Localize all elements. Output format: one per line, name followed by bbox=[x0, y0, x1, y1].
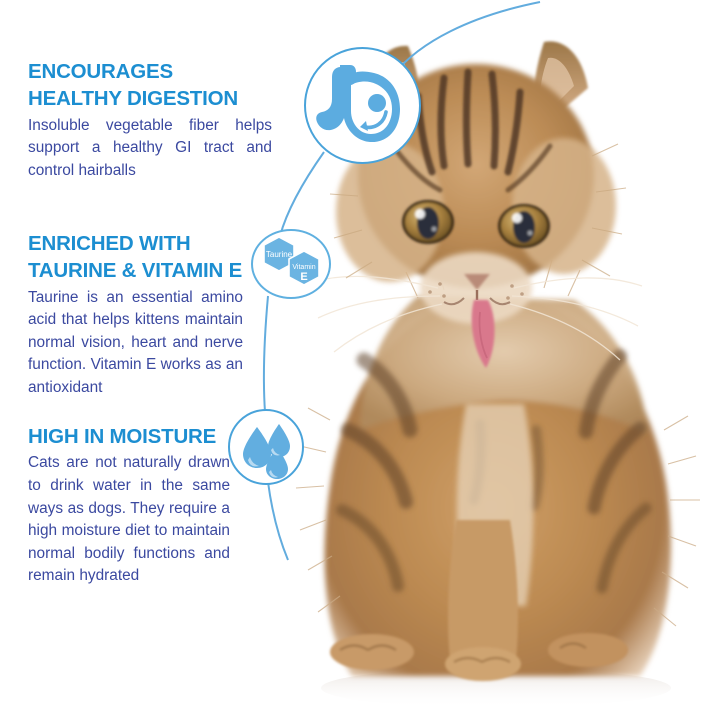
section-digestion-body: Insoluble vegetable fiber helps support … bbox=[28, 115, 272, 183]
hexagon-label-vitamin: Vitamin bbox=[292, 264, 315, 271]
section-taurine-heading: ENRICHED WITH TAURINE & VITAMIN E bbox=[28, 230, 250, 285]
stomach-icon bbox=[304, 47, 421, 164]
section-moisture-body: Cats are not naturally drawn to drink wa… bbox=[28, 452, 230, 588]
section-taurine: ENRICHED WITH TAURINE & VITAMIN E Taurin… bbox=[28, 230, 250, 400]
section-moisture: HIGH IN MOISTURE Cats are not naturally … bbox=[28, 423, 238, 588]
section-digestion-heading: ENCOURAGES HEALTHY DIGESTION bbox=[28, 58, 276, 113]
text-column: ENCOURAGES HEALTHY DIGESTION Insoluble v… bbox=[0, 0, 280, 720]
hexagon-label-e: E bbox=[300, 271, 307, 283]
section-moisture-heading: HIGH IN MOISTURE bbox=[28, 423, 238, 450]
infographic-root: Taurine Vitamin E ENCOURAGES HEALTHY D bbox=[0, 0, 720, 720]
section-digestion: ENCOURAGES HEALTHY DIGESTION Insoluble v… bbox=[28, 58, 276, 182]
section-taurine-body: Taurine is an essential amino acid that … bbox=[28, 287, 243, 400]
